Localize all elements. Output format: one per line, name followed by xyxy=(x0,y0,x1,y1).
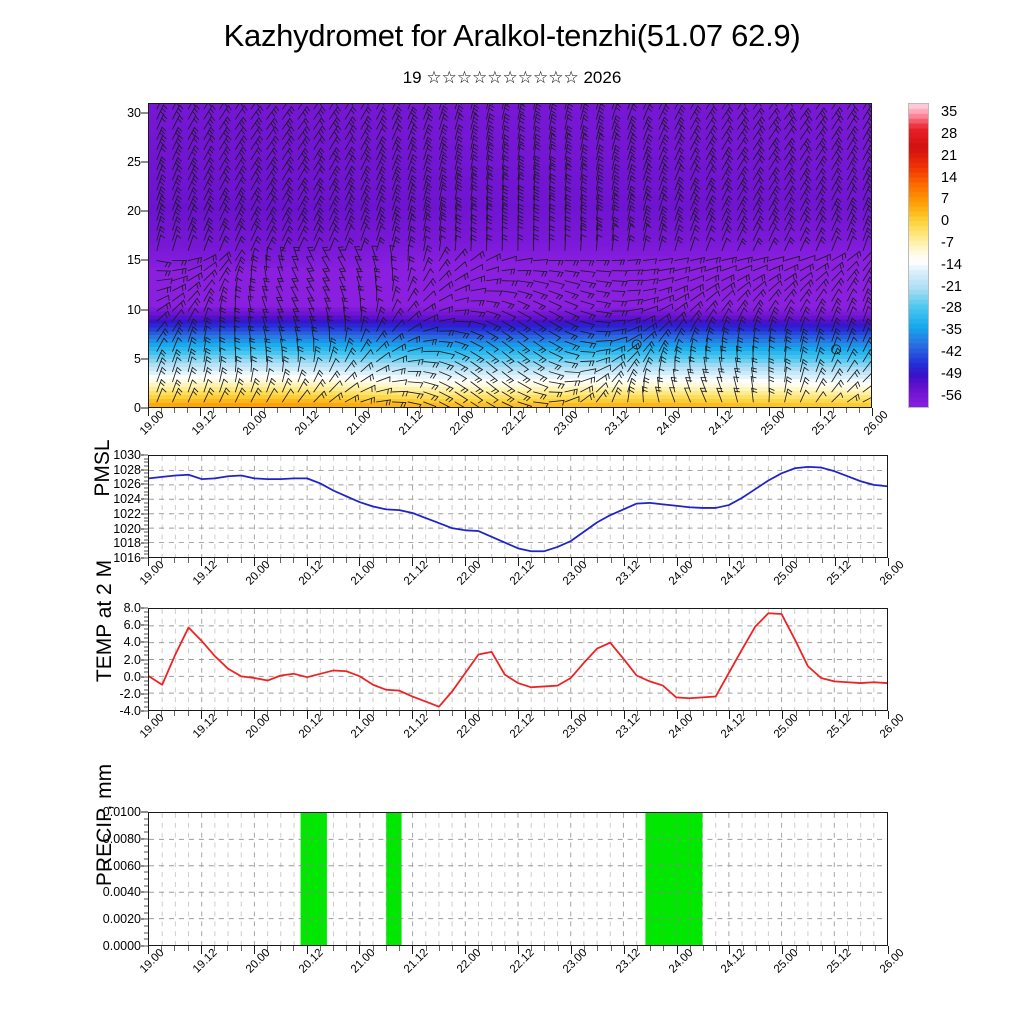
x-tick-label: 24.00 xyxy=(666,712,695,741)
cross-section-plotbox xyxy=(148,103,872,408)
x-tick-major xyxy=(769,408,770,416)
y-tick-minor xyxy=(144,825,148,826)
x-tick-label: 26.00 xyxy=(862,409,891,438)
y-tick-minor xyxy=(144,659,148,660)
precip-axis-title: PRECIP, mm xyxy=(92,715,118,935)
y-tick-minor xyxy=(144,845,148,846)
y-tick-minor xyxy=(144,612,148,613)
x-tick-minor xyxy=(432,408,433,413)
x-tick-minor xyxy=(174,558,175,563)
x-tick-minor xyxy=(704,408,705,413)
x-tick-minor xyxy=(280,558,281,563)
y-tick-minor xyxy=(144,608,148,609)
x-tick-label: 22.12 xyxy=(508,947,537,976)
x-tick-label: 20.00 xyxy=(244,947,273,976)
y-tick-label: 15 xyxy=(127,253,141,267)
y-tick-minor xyxy=(144,616,148,617)
y-tick-minor xyxy=(144,469,148,470)
x-tick-label: 20.00 xyxy=(244,712,273,741)
y-tick-minor xyxy=(144,919,148,920)
x-tick-major xyxy=(888,711,889,719)
y-tick-label: 0.0000 xyxy=(103,939,141,953)
y-tick-minor xyxy=(144,629,148,630)
y-tick-label: 30 xyxy=(127,106,141,120)
y-tick-minor xyxy=(144,625,148,626)
y-tick-minor xyxy=(144,676,148,677)
x-tick-major xyxy=(677,711,678,719)
x-tick-major xyxy=(782,946,783,954)
x-tick-minor xyxy=(346,558,347,563)
y-tick-minor xyxy=(144,832,148,833)
x-tick-label: 26.00 xyxy=(878,947,907,976)
x-tick-minor xyxy=(280,946,281,951)
x-tick-minor xyxy=(597,946,598,951)
y-tick-label: 1028 xyxy=(113,463,141,477)
y-tick-minor xyxy=(144,477,148,478)
y-tick-label: 2.0 xyxy=(124,653,141,667)
x-tick-major xyxy=(148,946,149,954)
y-tick-minor xyxy=(144,879,148,880)
weather-forecast-chart-page: Kazhydromet for Aralkol-tenzhi(51.07 62.… xyxy=(0,0,1024,1024)
x-tick-major xyxy=(888,946,889,954)
x-tick-minor xyxy=(597,711,598,716)
x-tick-major xyxy=(677,558,678,566)
y-tick-label: 4.0 xyxy=(124,635,141,649)
x-tick-major xyxy=(359,946,360,954)
y-tick-minor xyxy=(144,702,148,703)
x-tick-label: 20.12 xyxy=(296,559,325,588)
x-tick-minor xyxy=(333,711,334,716)
x-tick-minor xyxy=(386,946,387,951)
x-tick-label: 25.12 xyxy=(825,947,854,976)
x-tick-major xyxy=(251,408,252,416)
x-tick-minor xyxy=(756,408,757,413)
x-tick-minor xyxy=(809,711,810,716)
x-tick-label: 22.12 xyxy=(500,409,529,438)
y-tick-label: 1022 xyxy=(113,507,141,521)
x-tick-major xyxy=(148,558,149,566)
x-tick-major xyxy=(518,711,519,719)
y-tick-label: 10 xyxy=(127,303,141,317)
y-tick-mark xyxy=(141,211,148,212)
x-tick-label: 20.00 xyxy=(244,559,273,588)
x-tick-minor xyxy=(549,408,550,413)
y-tick-minor xyxy=(144,543,148,544)
x-tick-major xyxy=(201,711,202,719)
y-tick-minor xyxy=(144,620,148,621)
x-tick-major xyxy=(888,558,889,566)
x-tick-minor xyxy=(601,408,602,413)
y-tick-minor xyxy=(144,872,148,873)
y-tick-minor xyxy=(144,491,148,492)
pmsl-axis-title: PMSL xyxy=(90,403,116,533)
y-tick-minor xyxy=(144,646,148,647)
y-tick-mark xyxy=(141,408,148,409)
x-tick-minor xyxy=(756,711,757,716)
y-tick-minor xyxy=(144,502,148,503)
colorbar-tick-label: 14 xyxy=(941,170,957,186)
x-tick-major xyxy=(412,711,413,719)
x-tick-minor xyxy=(227,946,228,951)
x-tick-minor xyxy=(536,408,537,413)
x-tick-major xyxy=(465,946,466,954)
x-tick-major xyxy=(624,558,625,566)
pmsl-line-series xyxy=(149,456,887,557)
x-tick-minor xyxy=(756,558,757,563)
x-tick-major xyxy=(729,946,730,954)
x-tick-label: 22.00 xyxy=(448,409,477,438)
x-tick-major xyxy=(677,946,678,954)
x-tick-label: 19.00 xyxy=(138,409,167,438)
x-tick-label: 19.12 xyxy=(191,559,220,588)
x-tick-label: 19.12 xyxy=(191,947,220,976)
x-tick-label: 22.00 xyxy=(455,712,484,741)
y-tick-label: 5 xyxy=(134,352,141,366)
x-tick-minor xyxy=(346,711,347,716)
x-tick-minor xyxy=(650,711,651,716)
x-tick-minor xyxy=(386,711,387,716)
x-tick-label: 25.00 xyxy=(758,409,787,438)
x-tick-minor xyxy=(329,408,330,413)
y-tick-minor xyxy=(144,517,148,518)
x-tick-major xyxy=(359,711,360,719)
y-tick-label: 6.0 xyxy=(124,618,141,632)
x-tick-minor xyxy=(769,711,770,716)
x-tick-minor xyxy=(227,558,228,563)
y-tick-minor xyxy=(144,513,148,514)
x-tick-minor xyxy=(293,711,294,716)
colorbar-tick-label: -28 xyxy=(941,300,962,316)
colorbar-tick-label: 28 xyxy=(941,126,957,142)
x-tick-minor xyxy=(492,946,493,951)
x-tick-minor xyxy=(280,711,281,716)
x-tick-minor xyxy=(822,558,823,563)
x-tick-label: 21.12 xyxy=(402,559,431,588)
y-tick-minor xyxy=(144,865,148,866)
x-tick-minor xyxy=(497,408,498,413)
x-tick-major xyxy=(571,558,572,566)
x-tick-major xyxy=(729,711,730,719)
y-tick-minor xyxy=(144,655,148,656)
x-tick-minor xyxy=(862,946,863,951)
x-tick-minor xyxy=(505,946,506,951)
x-tick-minor xyxy=(769,946,770,951)
temperature-colorbar: 3528211470-7-14-21-28-35-42-49-56 xyxy=(908,103,929,408)
x-tick-minor xyxy=(611,558,612,563)
y-tick-minor xyxy=(144,535,148,536)
x-tick-minor xyxy=(716,558,717,563)
x-tick-label: 19.12 xyxy=(190,409,219,438)
y-tick-label: 1024 xyxy=(113,492,141,506)
x-tick-minor xyxy=(558,711,559,716)
y-tick-minor xyxy=(144,858,148,859)
x-tick-minor xyxy=(703,558,704,563)
x-tick-major xyxy=(872,408,873,416)
x-tick-label: 21.00 xyxy=(349,559,378,588)
y-tick-label: 0.0040 xyxy=(103,885,141,899)
x-tick-label: 21.12 xyxy=(402,947,431,976)
page-subtitle: 19 ☆☆☆☆☆☆☆☆☆☆ 2026 xyxy=(0,68,1024,88)
x-tick-minor xyxy=(558,558,559,563)
colorbar-tick-label: 7 xyxy=(941,191,949,207)
x-tick-label: 25.00 xyxy=(772,712,801,741)
x-tick-minor xyxy=(492,711,493,716)
x-tick-major xyxy=(465,558,466,566)
x-tick-major xyxy=(307,946,308,954)
x-tick-minor xyxy=(290,408,291,413)
y-tick-label: 20 xyxy=(127,204,141,218)
colorbar-tick-label: -56 xyxy=(941,388,962,404)
x-tick-minor xyxy=(639,408,640,413)
x-tick-major xyxy=(624,946,625,954)
x-tick-label: 19.00 xyxy=(138,712,167,741)
x-tick-major xyxy=(510,408,511,416)
x-tick-minor xyxy=(445,408,446,413)
x-tick-minor xyxy=(174,711,175,716)
x-tick-minor xyxy=(859,408,860,413)
x-tick-minor xyxy=(277,408,278,413)
x-tick-minor xyxy=(452,558,453,563)
x-tick-minor xyxy=(346,946,347,951)
x-tick-major xyxy=(201,558,202,566)
x-tick-label: 23.12 xyxy=(614,947,643,976)
colorbar-tick-label: 35 xyxy=(941,104,957,120)
x-tick-minor xyxy=(743,408,744,413)
x-tick-major xyxy=(148,408,149,416)
x-tick-major xyxy=(729,558,730,566)
x-tick-minor xyxy=(399,711,400,716)
y-tick-label: 0.0 xyxy=(124,670,141,684)
y-tick-minor xyxy=(144,638,148,639)
y-tick-mark xyxy=(141,358,148,359)
x-tick-label: 19.00 xyxy=(138,559,167,588)
x-tick-minor xyxy=(875,711,876,716)
x-tick-label: 23.00 xyxy=(561,712,590,741)
y-tick-label: 0.0080 xyxy=(103,832,141,846)
x-tick-major xyxy=(518,558,519,566)
x-tick-minor xyxy=(756,946,757,951)
x-tick-minor xyxy=(809,558,810,563)
colorbar-tick-label: -14 xyxy=(941,257,962,273)
x-tick-major xyxy=(835,946,836,954)
y-tick-minor xyxy=(144,458,148,459)
x-tick-minor xyxy=(611,711,612,716)
x-tick-major xyxy=(613,408,614,416)
x-tick-label: 21.00 xyxy=(349,712,378,741)
y-tick-minor xyxy=(144,668,148,669)
x-tick-minor xyxy=(588,408,589,413)
x-tick-label: 24.12 xyxy=(719,947,748,976)
y-tick-minor xyxy=(144,466,148,467)
x-tick-minor xyxy=(333,946,334,951)
x-tick-minor xyxy=(293,558,294,563)
x-tick-minor xyxy=(875,558,876,563)
x-tick-major xyxy=(355,408,356,416)
x-tick-minor xyxy=(703,711,704,716)
x-tick-minor xyxy=(846,408,847,413)
y-tick-minor xyxy=(144,521,148,522)
x-tick-minor xyxy=(333,558,334,563)
x-tick-major xyxy=(782,558,783,566)
x-tick-minor xyxy=(505,558,506,563)
x-tick-label: 20.12 xyxy=(296,712,325,741)
y-tick-minor xyxy=(144,528,148,529)
page-title: Kazhydromet for Aralkol-tenzhi(51.07 62.… xyxy=(0,18,1024,54)
y-tick-minor xyxy=(144,480,148,481)
x-tick-minor xyxy=(650,558,651,563)
x-tick-label: 19.00 xyxy=(138,947,167,976)
x-tick-major xyxy=(303,408,304,416)
y-tick-minor xyxy=(144,473,148,474)
y-tick-minor xyxy=(144,663,148,664)
x-tick-label: 21.12 xyxy=(396,409,425,438)
x-tick-major xyxy=(562,408,563,416)
x-tick-minor xyxy=(293,946,294,951)
y-tick-minor xyxy=(144,706,148,707)
x-tick-label: 25.00 xyxy=(772,947,801,976)
x-tick-major xyxy=(571,711,572,719)
x-tick-label: 23.12 xyxy=(614,559,643,588)
y-tick-minor xyxy=(144,905,148,906)
colorbar-tick-label: 0 xyxy=(941,213,949,229)
y-tick-minor xyxy=(144,495,148,496)
x-tick-minor xyxy=(439,946,440,951)
x-tick-minor xyxy=(544,558,545,563)
x-tick-label: 21.00 xyxy=(349,947,378,976)
x-tick-label: 24.00 xyxy=(655,409,684,438)
x-tick-major xyxy=(254,711,255,719)
x-tick-minor xyxy=(239,408,240,413)
x-tick-label: 22.00 xyxy=(455,947,484,976)
x-tick-minor xyxy=(769,558,770,563)
y-tick-label: 1030 xyxy=(113,448,141,462)
x-tick-major xyxy=(412,558,413,566)
x-tick-minor xyxy=(652,408,653,413)
x-tick-label: 25.12 xyxy=(810,409,839,438)
colorbar-tick-label: -21 xyxy=(941,279,962,295)
x-tick-label: 24.00 xyxy=(666,947,695,976)
x-tick-minor xyxy=(597,558,598,563)
pmsl-panel: 10161018102010221024102610281030 19.0019… xyxy=(148,455,888,558)
x-tick-minor xyxy=(862,558,863,563)
x-tick-minor xyxy=(794,408,795,413)
precip-plotbox xyxy=(148,812,888,946)
y-tick-minor xyxy=(144,672,148,673)
y-tick-label: 1026 xyxy=(113,477,141,491)
y-tick-mark xyxy=(141,260,148,261)
x-tick-label: 20.00 xyxy=(241,409,270,438)
x-tick-major xyxy=(665,408,666,416)
y-tick-label: 25 xyxy=(127,155,141,169)
x-tick-label: 22.00 xyxy=(455,559,484,588)
pmsl-plotbox xyxy=(148,455,888,558)
upper-air-cross-section-panel: 051015202530 19.0019.1220.0020.1221.0021… xyxy=(148,103,872,408)
x-tick-label: 20.12 xyxy=(296,947,325,976)
y-tick-mark xyxy=(141,112,148,113)
x-tick-minor xyxy=(822,711,823,716)
x-tick-major xyxy=(820,408,821,416)
colorbar-tick-label: -49 xyxy=(941,366,962,382)
x-tick-label: 23.00 xyxy=(552,409,581,438)
precip-bar-series xyxy=(149,813,887,945)
x-tick-minor xyxy=(439,711,440,716)
x-tick-label: 25.00 xyxy=(772,559,801,588)
x-tick-label: 23.12 xyxy=(614,712,643,741)
x-tick-major xyxy=(835,711,836,719)
x-tick-major xyxy=(518,946,519,954)
x-tick-minor xyxy=(241,711,242,716)
x-tick-minor xyxy=(703,946,704,951)
x-tick-label: 25.12 xyxy=(825,559,854,588)
x-tick-minor xyxy=(386,558,387,563)
x-tick-minor xyxy=(241,946,242,951)
y-tick-minor xyxy=(144,484,148,485)
x-tick-minor xyxy=(875,946,876,951)
x-tick-major xyxy=(465,711,466,719)
y-tick-mark xyxy=(141,812,148,813)
x-tick-major xyxy=(359,558,360,566)
y-tick-minor xyxy=(144,633,148,634)
y-tick-minor xyxy=(144,689,148,690)
y-tick-label: 0.0060 xyxy=(103,859,141,873)
y-tick-label: 0 xyxy=(134,401,141,415)
precip-panel: 0.00000.00200.00400.00600.00800.0100 19.… xyxy=(148,812,888,946)
x-tick-major xyxy=(200,408,201,416)
x-tick-minor xyxy=(399,946,400,951)
x-tick-label: 20.12 xyxy=(293,409,322,438)
x-tick-minor xyxy=(492,558,493,563)
x-tick-label: 22.12 xyxy=(508,559,537,588)
cross-section-field xyxy=(149,104,871,407)
y-tick-label: -4.0 xyxy=(119,704,141,718)
y-tick-minor xyxy=(144,510,148,511)
y-tick-minor xyxy=(144,693,148,694)
y-tick-label: 0.0100 xyxy=(103,805,141,819)
x-tick-label: 23.12 xyxy=(603,409,632,438)
x-tick-major xyxy=(201,946,202,954)
x-tick-minor xyxy=(399,558,400,563)
colorbar-gradient xyxy=(908,103,929,408)
x-tick-minor xyxy=(342,408,343,413)
y-tick-minor xyxy=(144,852,148,853)
x-tick-major xyxy=(782,711,783,719)
y-tick-minor xyxy=(144,532,148,533)
x-tick-minor xyxy=(558,946,559,951)
x-tick-major xyxy=(571,946,572,954)
colorbar-tick-label: -35 xyxy=(941,322,962,338)
y-tick-minor xyxy=(144,680,148,681)
y-tick-label: 1020 xyxy=(113,522,141,536)
x-tick-minor xyxy=(505,711,506,716)
x-tick-minor xyxy=(188,711,189,716)
x-tick-label: 24.00 xyxy=(666,559,695,588)
x-tick-minor xyxy=(188,946,189,951)
x-tick-minor xyxy=(241,558,242,563)
y-tick-label: 8.0 xyxy=(124,601,141,615)
colorbar-tick-label: -42 xyxy=(941,344,962,360)
y-tick-minor xyxy=(144,939,148,940)
x-tick-label: 21.00 xyxy=(345,409,374,438)
y-tick-minor xyxy=(144,499,148,500)
y-tick-minor xyxy=(144,912,148,913)
x-tick-minor xyxy=(663,946,664,951)
y-tick-minor xyxy=(144,524,148,525)
y-tick-minor xyxy=(144,546,148,547)
x-tick-minor xyxy=(439,558,440,563)
x-tick-label: 26.00 xyxy=(878,559,907,588)
y-tick-minor xyxy=(144,506,148,507)
x-tick-label: 26.00 xyxy=(878,712,907,741)
